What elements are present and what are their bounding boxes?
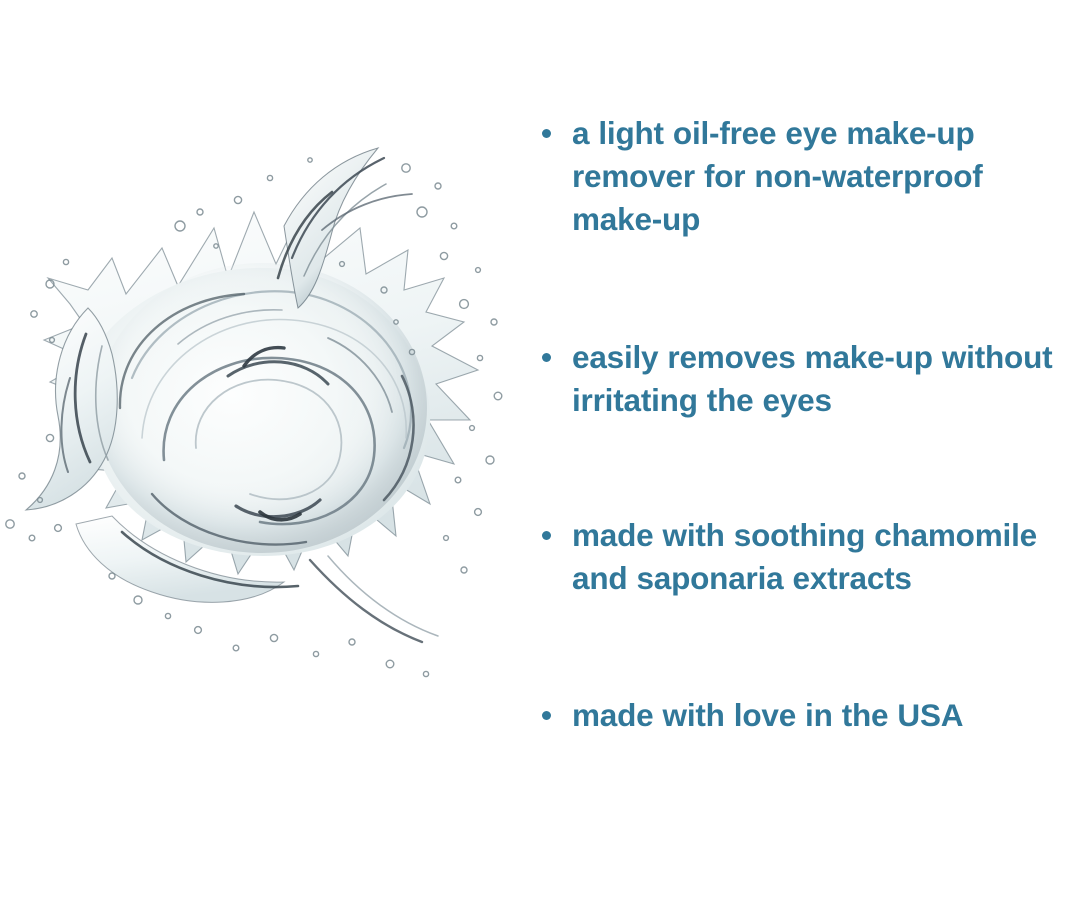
feature-list: a light oil-free eye make-up remover for… — [534, 112, 1062, 737]
list-item: a light oil-free eye make-up remover for… — [534, 112, 1062, 241]
list-item: easily removes make-up without irritatin… — [534, 336, 1062, 422]
feature-text: easily removes make-up without irritatin… — [572, 336, 1062, 422]
bullet-point-icon — [542, 353, 551, 362]
bullet-point-icon — [542, 531, 551, 540]
water-splash-illustration — [0, 108, 532, 758]
feature-bullets-panel: a light oil-free eye make-up remover for… — [530, 0, 1069, 913]
splash-left-tongue — [26, 308, 117, 510]
feature-text: made with soothing chamomile and saponar… — [572, 514, 1062, 600]
feature-text: a light oil-free eye make-up remover for… — [572, 112, 1062, 241]
splash-image-panel — [0, 0, 530, 913]
product-feature-graphic: a light oil-free eye make-up remover for… — [0, 0, 1069, 913]
feature-text: made with love in the USA — [572, 694, 1062, 737]
list-item: made with love in the USA — [534, 694, 1062, 737]
bullet-point-icon — [542, 711, 551, 720]
list-item: made with soothing chamomile and saponar… — [534, 514, 1062, 600]
bullet-point-icon — [542, 129, 551, 138]
